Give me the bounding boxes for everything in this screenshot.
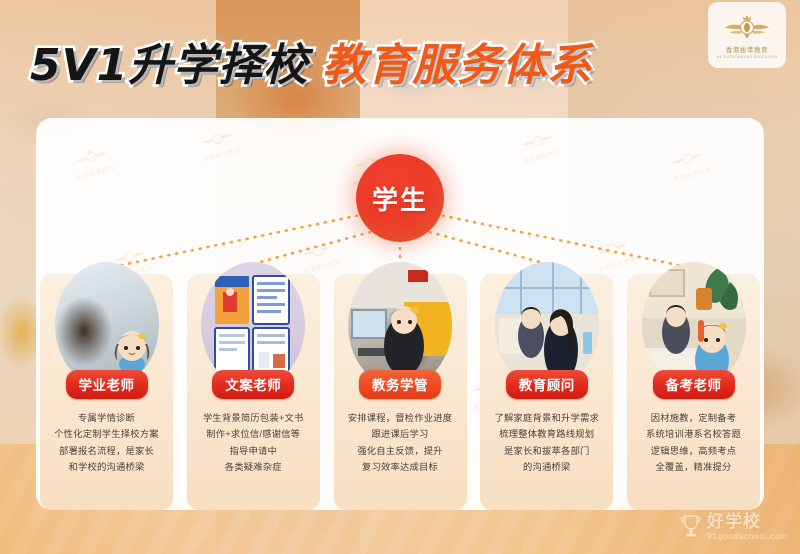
brand-name-cn: 香港拔萃教育 [726,44,769,54]
role-card[interactable]: 学业老师 专属学情诊断 个性化定制学生择校方案 部署报名流程，是家长 和学校的沟… [40,274,173,510]
role-badge: 备考老师 [653,370,735,399]
role-badge: 教育顾问 [506,370,588,399]
role-card-list: 学业老师 专属学情诊断 个性化定制学生择校方案 部署报名流程，是家长 和学校的沟… [40,274,760,510]
brand-logo: 香港拔萃教育 HK OUTSTANDING EDUCATION [708,2,786,68]
role-card[interactable]: 教育顾问 了解家庭背景和升学需求 梳理整体教育路线规划 是家长和拔萃各部门 的沟… [480,274,613,510]
role-badge: 教务学管 [359,370,441,399]
role-description: 了解家庭背景和升学需求 梳理整体教育路线规划 是家长和拔萃各部门 的沟通桥梁 [480,410,613,475]
site-watermark-name: 好学校 [707,513,788,530]
role-badge: 文案老师 [212,370,294,399]
role-description: 专属学情诊断 个性化定制学生择校方案 部署报名流程，是家长 和学校的沟通桥梁 [40,410,173,475]
trophy-icon [680,513,702,539]
center-hub-label: 学生 [372,180,428,217]
role-description: 因材施教，定制备考 系统培训港系名校答题 逻辑思维，高频考点 全覆盖，精准提分 [627,410,760,475]
role-card[interactable]: 文案老师 学生背景简历包装+文书 制作+求位信/感谢信等 指导申请中 各类疑难杂… [187,274,320,510]
site-watermark-domain: 91goodschool.com [707,532,788,541]
watermark: 香港拔萃教育 [57,138,129,186]
watermark: 香港拔萃教育 [653,140,725,188]
title-accent: 教育服务体系 [322,44,592,88]
crown-wings-logo-icon [723,12,771,42]
title-primary: 5V1升学择校 [30,44,308,88]
center-hub: 学生 [356,154,444,242]
brand-name-en: HK OUTSTANDING EDUCATION [717,55,777,59]
role-description: 学生背景简历包装+文书 制作+求位信/感谢信等 指导申请中 各类疑难杂症 [187,410,320,475]
cartoon-girl-avatar-icon [111,324,153,372]
page-title: 5V1升学择校 教育服务体系 [30,44,592,88]
poster-root: 5V1升学择校 教育服务体系 香港拔萃教育 HK OUTSTANDING EDU… [0,0,800,554]
role-badge: 学业老师 [66,370,148,399]
role-card[interactable]: 教务学管 安排课程，督检作业进度 跟进课后学习 强化自主反馈，提升 复习效率达成… [334,274,467,510]
role-card[interactable]: 备考老师 因材施教，定制备考 系统培训港系名校答题 逻辑思维，高频考点 全覆盖，… [627,274,760,510]
site-watermark: 好学校 91goodschool.com [680,513,788,541]
role-description: 安排课程，督检作业进度 跟进课后学习 强化自主反馈，提升 复习效率达成目标 [334,410,467,475]
watermark: 香港拔萃教育 [503,122,575,170]
watermark: 香港拔萃教育 [183,120,255,168]
